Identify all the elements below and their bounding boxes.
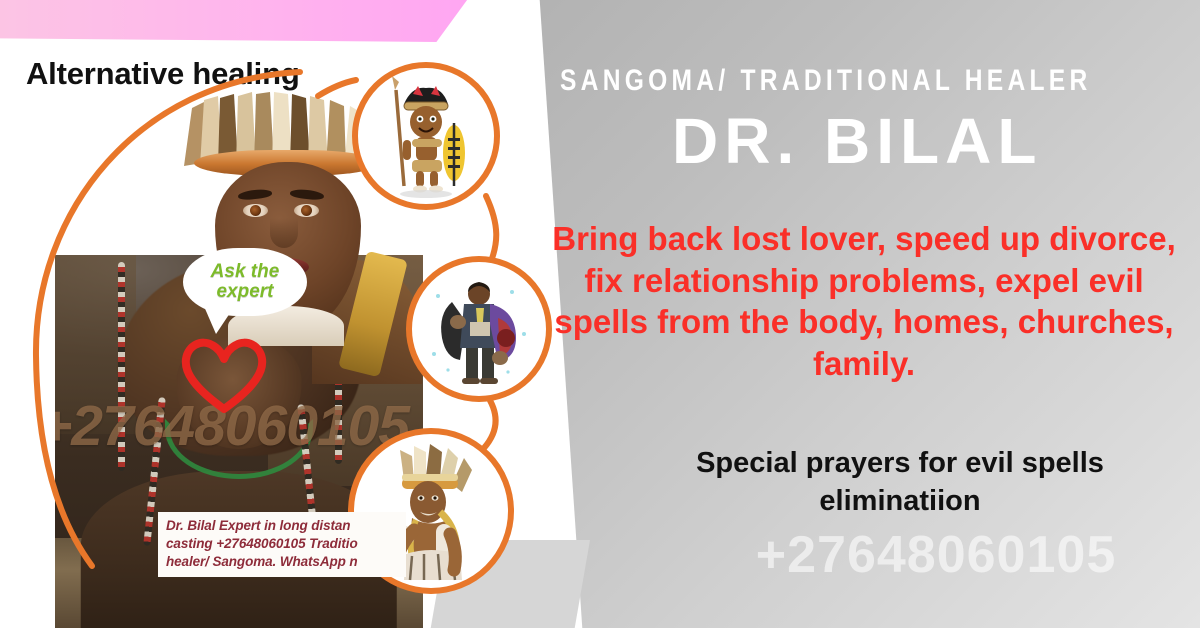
photo-caption: Dr. Bilal Expert in long distan casting …	[158, 512, 406, 577]
special-offer-text: Special prayers for evil spells eliminat…	[620, 445, 1180, 520]
phone-watermark: +27648060105	[676, 525, 1196, 585]
portrait-iris	[250, 205, 261, 216]
speech-bubble-label: Ask the expert	[183, 262, 307, 302]
top-left-pink-band	[0, 0, 470, 42]
services-text: Bring back lost lover, speed up divorce,…	[540, 218, 1188, 384]
zulu-warrior-icon	[358, 68, 494, 204]
poster-canvas: Alternative healing +27648060105	[0, 0, 1200, 628]
circle-zulu-warrior	[352, 62, 500, 210]
brand-name: DR. BILAL	[672, 104, 1192, 178]
circle-diviner	[406, 256, 552, 402]
portrait-iris	[301, 205, 312, 216]
kicker-text: SANGOMA/ TRADITIONAL HEALER	[560, 64, 1077, 98]
page-title: Alternative healing	[26, 56, 300, 92]
diviner-figure-icon	[412, 262, 546, 396]
heart-icon	[178, 333, 270, 415]
speech-bubble-icon: Ask the expert	[183, 248, 307, 316]
portrait-nose	[270, 218, 298, 248]
